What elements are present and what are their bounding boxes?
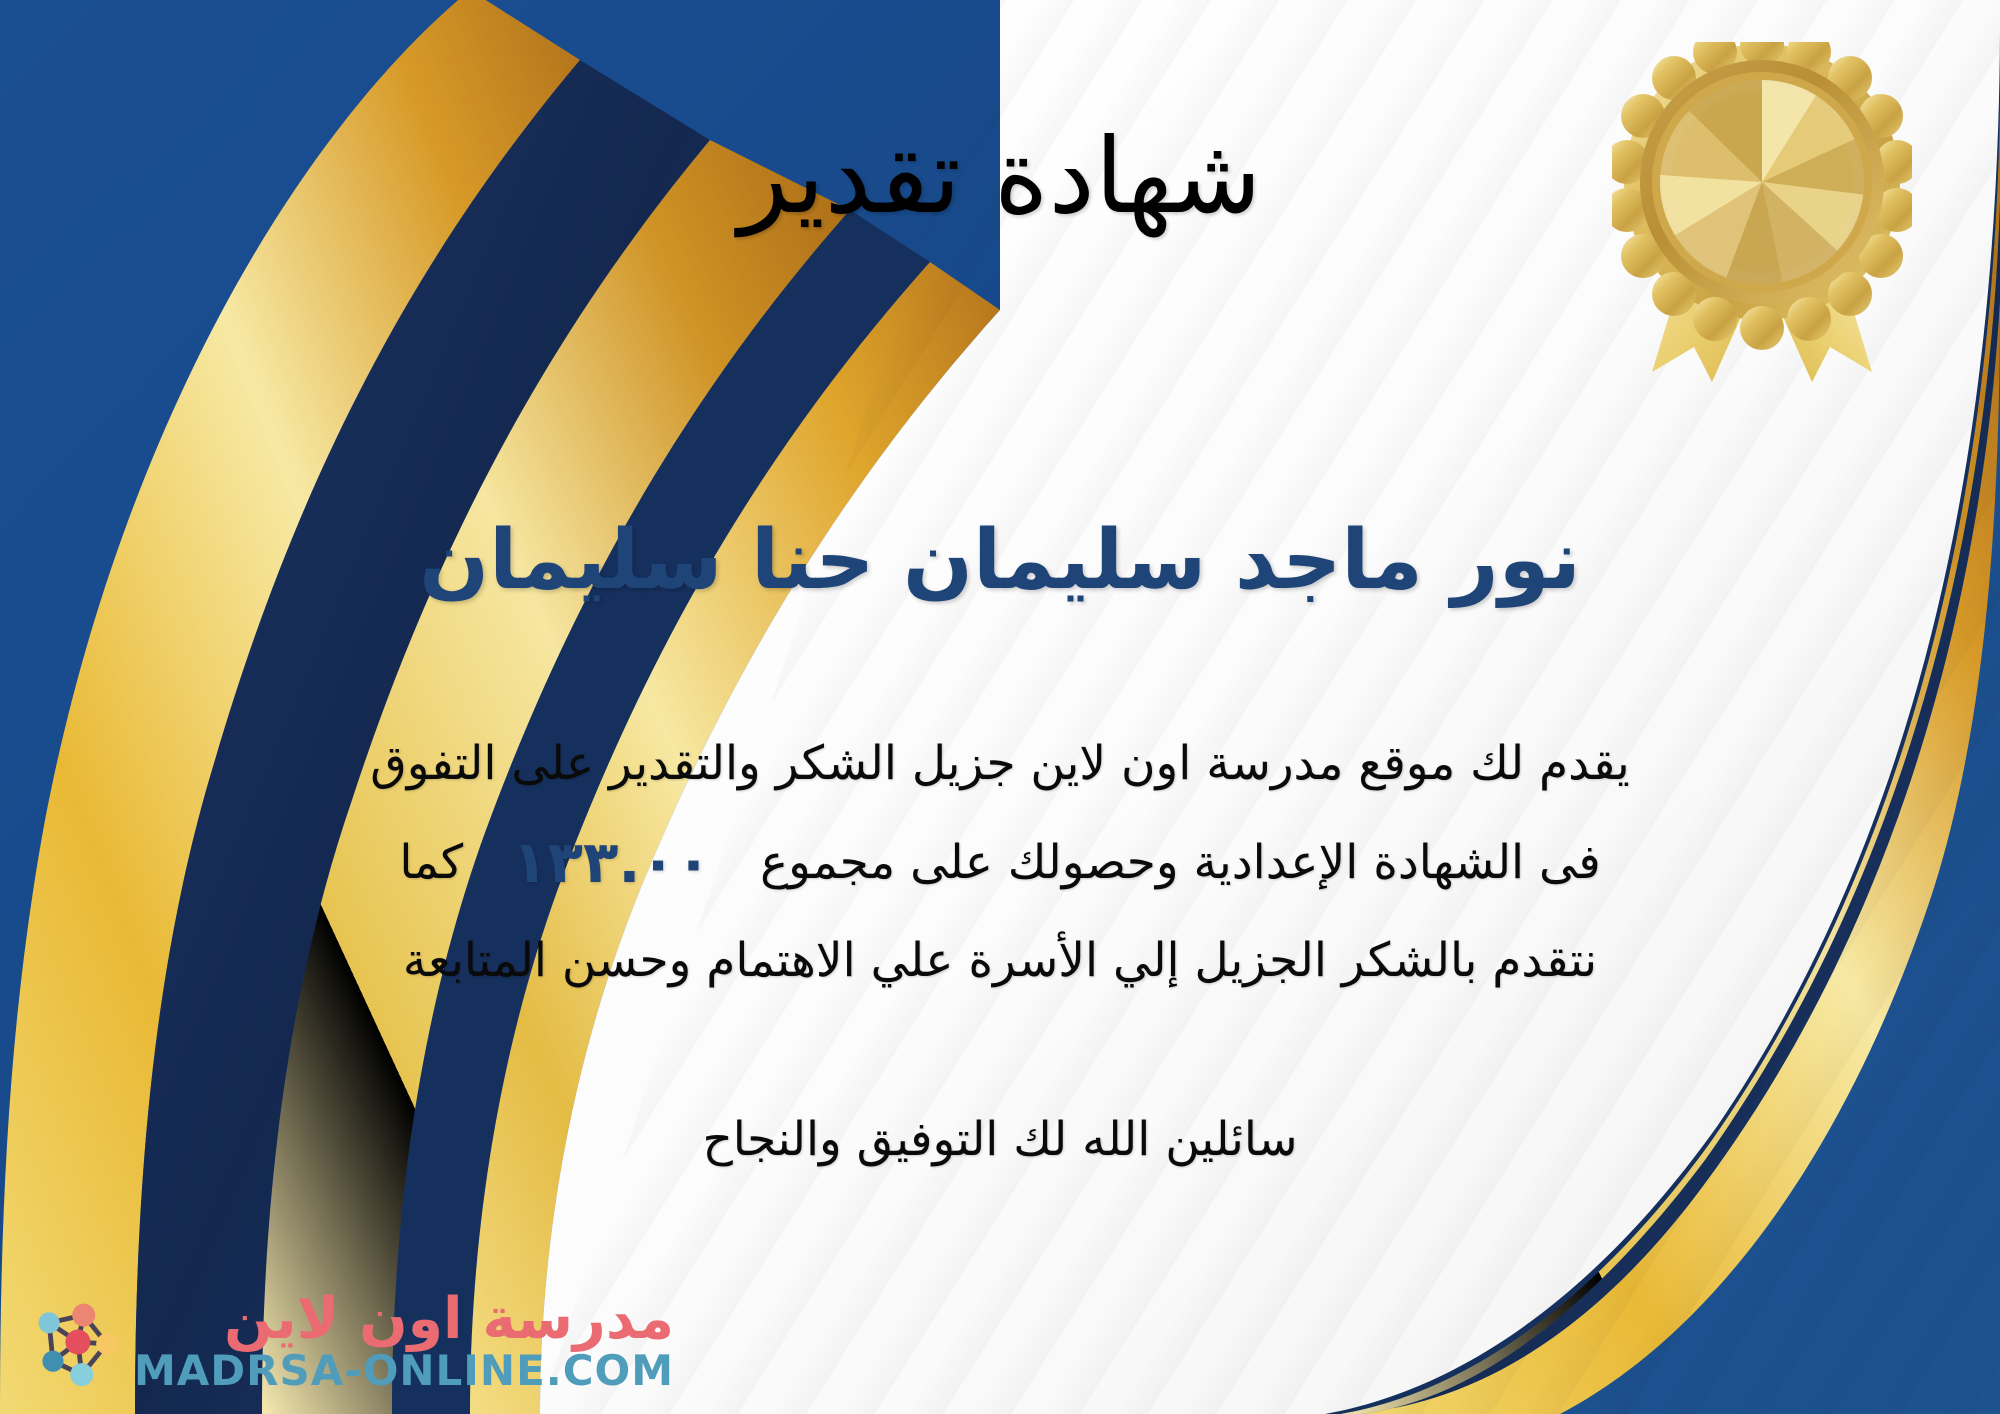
certificate-title: شهادة تقدير [0, 118, 2000, 234]
certificate-body: يقدم لك موقع مدرسة اون لاين جزيل الشكر و… [60, 720, 1940, 1006]
node-blue [42, 1350, 63, 1371]
node-light-teal [39, 1312, 60, 1333]
body-line-2-suffix: كما [399, 835, 463, 890]
site-logo[interactable]: مدرسة اون لاين MADRSA-ONLINE.COM [28, 1291, 674, 1392]
closing-wish: سائلين الله لك التوفيق والنجاح [0, 1112, 2000, 1167]
node-red [65, 1329, 90, 1354]
body-line-2-prefix: فى الشهادة الإعدادية وحصولك على مجموع [760, 835, 1601, 890]
node-coral [72, 1303, 95, 1326]
certificate-canvas: شهادة تقدير نور ماجد سليمان حنا سليمان ي… [0, 0, 2000, 1414]
body-line-1: يقدم لك موقع مدرسة اون لاين جزيل الشكر و… [60, 720, 1940, 808]
site-logo-text: مدرسة اون لاين MADRSA-ONLINE.COM [134, 1291, 674, 1392]
site-logo-arabic: مدرسة اون لاين [224, 1291, 674, 1348]
site-logo-domain: MADRSA-ONLINE.COM [134, 1350, 674, 1392]
network-nodes-icon [28, 1294, 124, 1390]
body-line-2: فى الشهادة الإعدادية وحصولك على مجموع ١٣… [60, 808, 1940, 917]
node-yellow [96, 1333, 117, 1354]
body-line-3: نتقدم بالشكر الجزيل إلي الأسرة علي الاهت… [60, 917, 1940, 1005]
node-cyan [70, 1363, 93, 1386]
grade-total-value: ١٣٣.٠٠ [512, 808, 711, 917]
recipient-name: نور ماجد سليمان حنا سليمان [0, 510, 2000, 613]
